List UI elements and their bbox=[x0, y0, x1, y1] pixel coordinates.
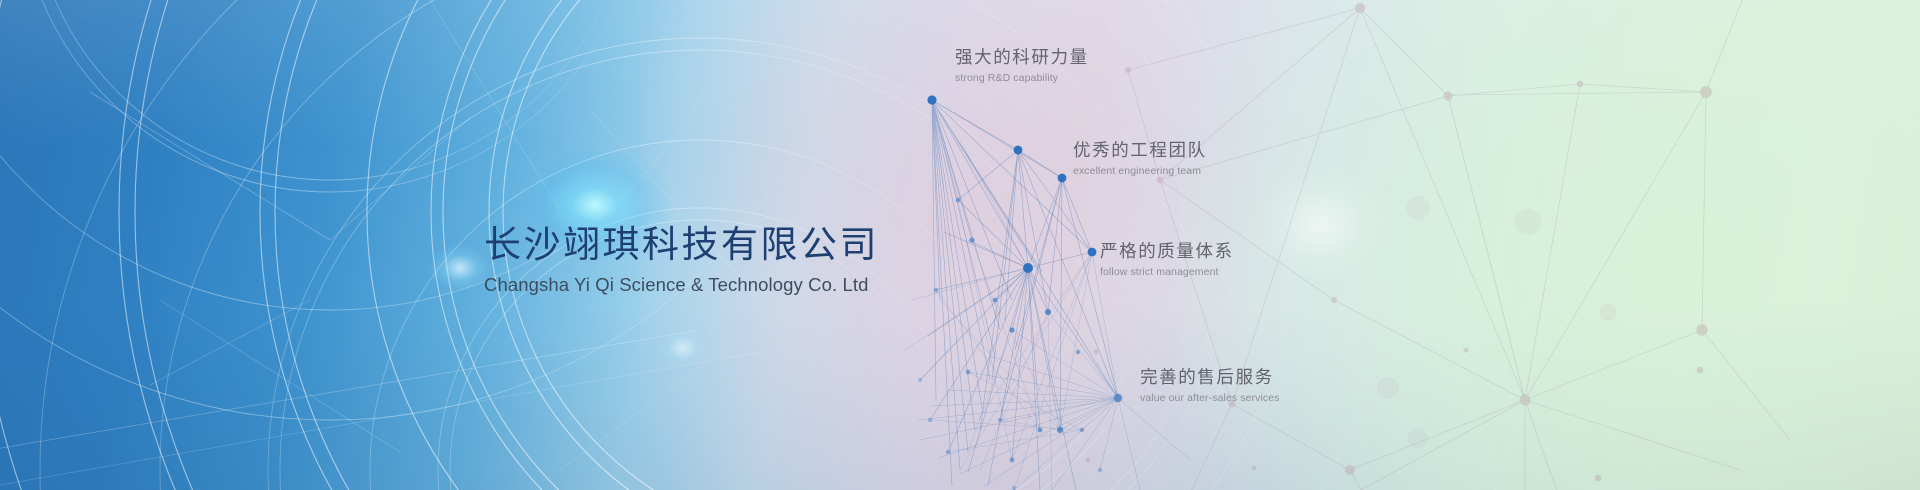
page-title: 长沙翊琪科技有限公司 bbox=[484, 225, 904, 268]
cyan-glow-secondary bbox=[430, 245, 490, 291]
feature-label-cn: 强大的科研力量 bbox=[955, 46, 1089, 69]
page-subtitle: Changsha Yi Qi Science & Technology Co. … bbox=[484, 274, 904, 296]
feature-label-en: strong R&D capability bbox=[955, 71, 1089, 86]
feature-item-rd: 强大的科研力量 strong R&D capability bbox=[955, 46, 1089, 85]
cyan-glow-tertiary bbox=[660, 330, 706, 366]
mint-wash bbox=[1180, 0, 1920, 490]
feature-label-cn: 完善的售后服务 bbox=[1140, 366, 1280, 389]
company-banner: 长沙翊琪科技有限公司 Changsha Yi Qi Science & Tech… bbox=[0, 0, 1920, 490]
mint-glow bbox=[1255, 170, 1385, 280]
feature-label-cn: 优秀的工程团队 bbox=[1073, 139, 1207, 162]
feature-label-en: follow strict management bbox=[1100, 265, 1234, 280]
feature-label-cn: 严格的质量体系 bbox=[1100, 240, 1234, 263]
feature-item-quality: 严格的质量体系 follow strict management bbox=[1100, 240, 1234, 279]
feature-label-en: value our after-sales services bbox=[1140, 391, 1280, 406]
feature-item-team: 优秀的工程团队 excellent engineering team bbox=[1073, 139, 1207, 178]
company-title-block: 长沙翊琪科技有限公司 Changsha Yi Qi Science & Tech… bbox=[484, 225, 904, 296]
feature-label-en: excellent engineering team bbox=[1073, 164, 1207, 179]
feature-item-service: 完善的售后服务 value our after-sales services bbox=[1140, 366, 1280, 405]
